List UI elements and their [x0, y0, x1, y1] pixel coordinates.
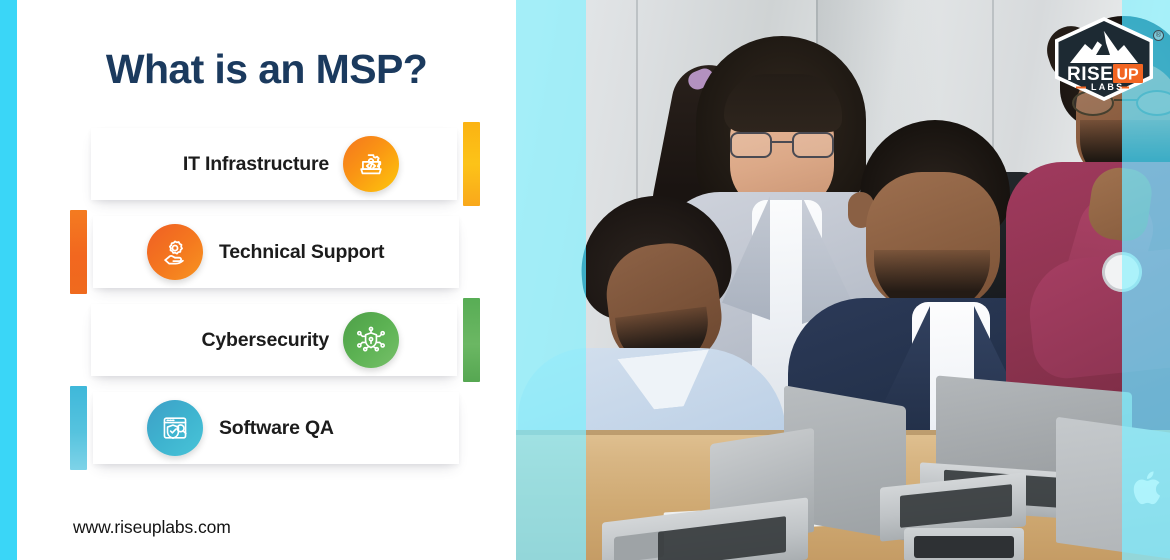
service-card-technical-support[interactable]: Technical Support: [93, 216, 459, 288]
service-card-cybersecurity[interactable]: Cybersecurity: [91, 304, 457, 376]
content-panel: What is an MSP? IT Infrastructure: [17, 0, 516, 560]
shield-network-lock-icon: [343, 312, 399, 368]
service-card-it-infrastructure[interactable]: IT Infrastructure: [91, 128, 457, 200]
service-label: Technical Support: [219, 241, 384, 264]
laptop-apple: [1056, 430, 1170, 560]
server-code-gear-icon: [343, 136, 399, 192]
browser-shield-magnifier-icon: [147, 400, 203, 456]
tablet-device: [904, 528, 1024, 560]
accent-bar: [463, 122, 480, 206]
page-title: What is an MSP?: [17, 46, 516, 93]
accent-bar: [463, 298, 480, 382]
accent-bar: [70, 210, 87, 294]
registered-trademark-icon: ®: [1153, 30, 1164, 41]
apple-logo-icon: [1132, 468, 1166, 508]
hand-gear-support-icon: [147, 224, 203, 280]
left-edge-accent-bar: [0, 0, 17, 560]
logo-up-text: UP: [1117, 67, 1140, 84]
service-list: IT Infrastructure: [17, 128, 516, 496]
service-card-software-qa[interactable]: Software QA: [93, 392, 459, 464]
website-url[interactable]: www.riseuplabs.com: [73, 517, 231, 538]
laptop: [602, 436, 814, 560]
logo-labs-text: LABS: [1091, 82, 1124, 92]
service-label: Software QA: [219, 417, 334, 440]
riseup-labs-logo: RISE UP LABS: [1054, 17, 1154, 101]
poster-canvas: What is an MSP? IT Infrastructure: [0, 0, 1170, 560]
laptop: [784, 396, 1016, 546]
accent-bar: [70, 386, 87, 470]
service-label: Cybersecurity: [202, 329, 329, 352]
service-label: IT Infrastructure: [183, 153, 329, 176]
